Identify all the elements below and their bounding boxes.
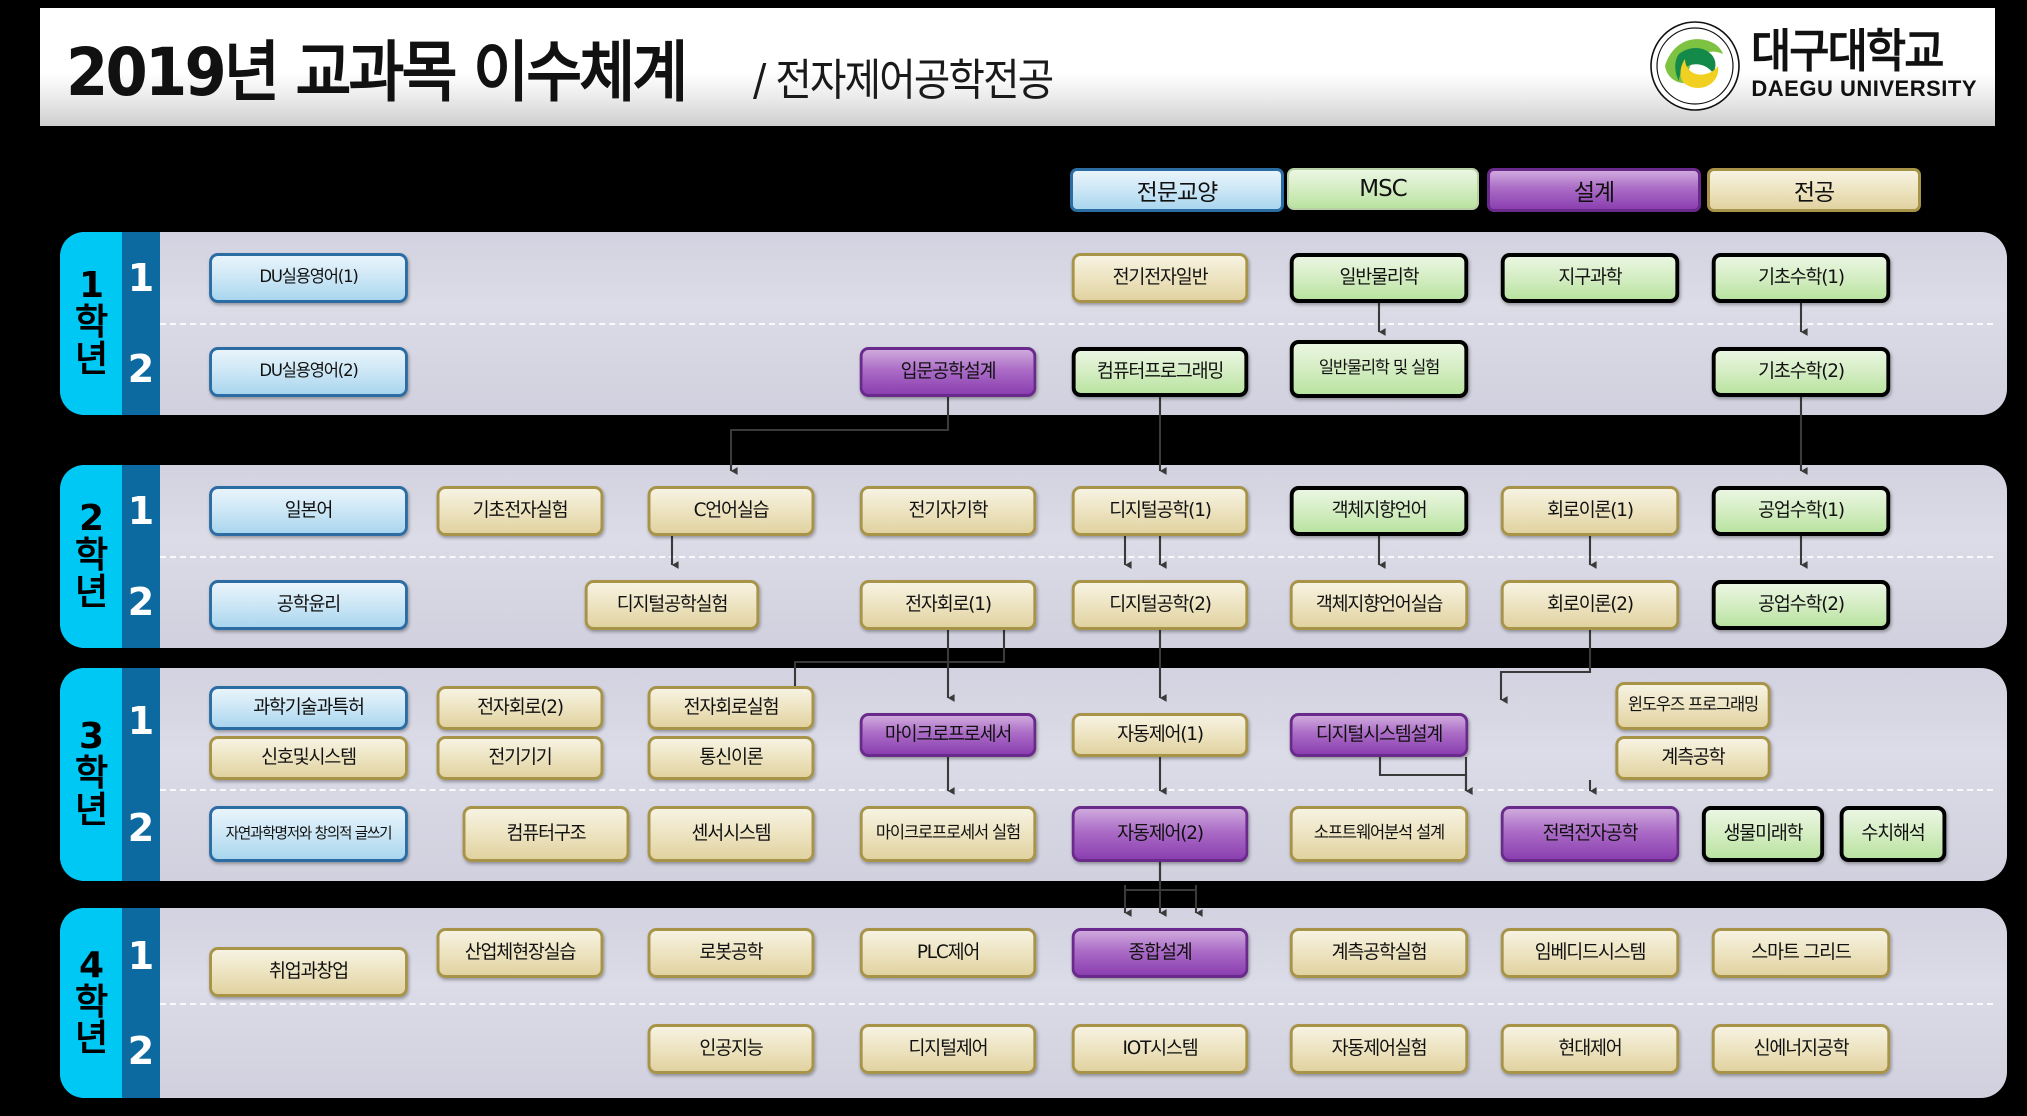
course-label: 센서시스템 <box>692 824 771 843</box>
course-label: 공업수학(1) <box>1758 501 1844 520</box>
semester-column-year3: 1 2 <box>122 668 160 881</box>
course-box-biofuture[interactable]: 생물미래학 <box>1702 806 1824 862</box>
logo-korean-name: 대구대학교 <box>1751 28 1965 74</box>
course-label: 기초수학(1) <box>1758 268 1844 287</box>
course-box-physlab[interactable]: 일반물리학 및 실험 <box>1290 340 1468 398</box>
course-label: 인공지능 <box>699 1039 762 1058</box>
course-label: 종합설계 <box>1128 943 1191 962</box>
title-separator: / <box>753 55 765 106</box>
course-label: 현대제어 <box>1558 1039 1621 1058</box>
course-label: 계측공학실험 <box>1332 943 1427 962</box>
semester-divider-year1 <box>160 323 1993 325</box>
course-label: DU실용영어(2) <box>259 363 357 380</box>
course-label: DU실용영어(1) <box>259 269 357 286</box>
course-box-clang[interactable]: C언어실습 <box>648 486 815 536</box>
semester-number-2-1: 1 <box>122 465 160 557</box>
course-box-field[interactable]: 산업체현장실습 <box>437 928 604 978</box>
course-label: 임베디드시스템 <box>1535 943 1646 962</box>
course-box-cprog[interactable]: 컴퓨터프로그래밍 <box>1072 347 1249 397</box>
course-label: 기초수학(2) <box>1758 362 1844 381</box>
course-box-smartgrid[interactable]: 스마트 그리드 <box>1712 928 1890 978</box>
course-label: 마이크로프로세서 <box>885 725 1011 744</box>
course-label: 전력전자공학 <box>1543 824 1638 843</box>
course-box-phys1[interactable]: 일반물리학 <box>1290 253 1468 303</box>
course-box-capstone[interactable]: 종합설계 <box>1072 928 1249 978</box>
course-box-auto1[interactable]: 자동제어(1) <box>1072 713 1249 757</box>
course-box-ckt1[interactable]: 회로이론(1) <box>1501 486 1679 536</box>
legend-item-msc: MSC <box>1287 168 1479 210</box>
course-label: 전자회로실험 <box>684 698 779 717</box>
course-label: 컴퓨터프로그래밍 <box>1097 362 1223 381</box>
course-box-microexp[interactable]: 마이크로프로세서 실험 <box>860 806 1037 862</box>
course-box-jp[interactable]: 일본어 <box>209 486 408 536</box>
semester-number-1-1: 1 <box>122 232 160 324</box>
course-label: 전자회로(1) <box>905 595 991 614</box>
year-label-3: 3학년 <box>60 668 122 881</box>
semester-column-year1: 1 2 <box>122 232 160 415</box>
course-label: 회로이론(1) <box>1547 501 1633 520</box>
title-major: 전자제어공학전공 <box>776 55 1053 106</box>
page-header: 2019년 교과목 이수체계 / 전자제어공학전공 대구대학교 DAEGU UN… <box>40 8 1995 126</box>
course-box-ecirc2[interactable]: 전자회로(2) <box>437 686 604 730</box>
course-label: 신호및시스템 <box>261 748 356 767</box>
course-box-ckt2[interactable]: 회로이론(2) <box>1501 580 1679 630</box>
course-box-plc[interactable]: PLC제어 <box>860 928 1037 978</box>
course-box-oop[interactable]: 객체지향언어 <box>1290 486 1468 536</box>
course-label: 취업과창업 <box>269 962 348 981</box>
course-box-emath2[interactable]: 공업수학(2) <box>1712 580 1890 630</box>
course-box-du2[interactable]: DU실용영어(2) <box>209 347 408 397</box>
course-label: 윈도우즈 프로그래밍 <box>1628 697 1758 714</box>
course-box-dig2[interactable]: 디지털공학(2) <box>1072 580 1249 630</box>
semester-divider-year3 <box>160 789 1993 791</box>
course-label: 통신이론 <box>699 748 762 767</box>
course-box-newenergy[interactable]: 신에너지공학 <box>1712 1024 1890 1074</box>
course-label: 스마트 그리드 <box>1751 943 1850 962</box>
course-box-ai[interactable]: 인공지능 <box>648 1024 815 1074</box>
course-box-emath1[interactable]: 공업수학(1) <box>1712 486 1890 536</box>
course-box-measexp[interactable]: 계측공학실험 <box>1290 928 1468 978</box>
course-box-intro[interactable]: 입문공학설계 <box>860 347 1037 397</box>
course-box-comparch[interactable]: 컴퓨터구조 <box>463 806 630 862</box>
course-box-ecirc1[interactable]: 전자회로(1) <box>860 580 1037 630</box>
semester-number-3-1: 1 <box>122 668 160 775</box>
semester-column-year2: 1 2 <box>122 465 160 648</box>
semester-divider-year2 <box>160 556 1993 558</box>
semester-number-1-2: 2 <box>122 324 160 416</box>
course-label: 마이크로프로세서 실험 <box>876 825 1020 842</box>
course-box-auto2[interactable]: 자동제어(2) <box>1072 806 1249 862</box>
course-label: 자연과학명저와 창의적 글쓰기 <box>226 826 392 841</box>
course-box-comm[interactable]: 통신이론 <box>648 736 815 780</box>
course-label: 디지털공학실험 <box>617 595 728 614</box>
course-box-science[interactable]: 자연과학명저와 창의적 글쓰기 <box>209 806 408 862</box>
semester-column-year4: 1 2 <box>122 908 160 1098</box>
legend-item-design: 설계 <box>1487 168 1701 212</box>
logo-text: 대구대학교 DAEGU UNIVERSITY <box>1751 28 1977 104</box>
course-label: 수치해석 <box>1861 824 1924 843</box>
year-label-1: 1학년 <box>60 232 122 415</box>
legend-item-general: 전문교양 <box>1070 168 1284 212</box>
course-box-winprog[interactable]: 윈도우즈 프로그래밍 <box>1615 682 1770 730</box>
page-title: 2019년 교과목 이수체계 / 전자제어공학전공 <box>40 19 1086 115</box>
course-box-digctl[interactable]: 디지털제어 <box>860 1024 1037 1074</box>
year-label-2: 2학년 <box>60 465 122 648</box>
course-label: 디지털시스템설계 <box>1316 725 1442 744</box>
semester-number-4-1: 1 <box>122 908 160 1003</box>
semester-number-3-2: 2 <box>122 775 160 882</box>
page-title-sub: / 전자제어공학전공 <box>753 44 1052 108</box>
semester-number-2-2: 2 <box>122 557 160 649</box>
year-label-4: 4학년 <box>60 908 122 1098</box>
course-label: 지구과학 <box>1558 268 1621 287</box>
course-label: 과학기술과특허 <box>253 698 364 717</box>
daegu-university-seal-icon <box>1649 20 1741 112</box>
course-box-swdesign[interactable]: 소프트웨어분석 설계 <box>1290 806 1468 862</box>
university-logo: 대구대학교 DAEGU UNIVERSITY <box>1649 14 1977 118</box>
course-label: 공학윤리 <box>277 595 340 614</box>
legend: 전문교양 MSC 설계 전공 <box>0 168 2027 212</box>
course-label: 입문공학설계 <box>901 362 996 381</box>
course-box-meas[interactable]: 계측공학 <box>1615 736 1770 780</box>
course-label: PLC제어 <box>917 943 979 962</box>
course-label: 계측공학 <box>1661 748 1724 767</box>
course-box-micro[interactable]: 마이크로프로세서 <box>860 713 1037 757</box>
course-label: 자동제어(2) <box>1117 824 1203 843</box>
course-box-powerelec[interactable]: 전력전자공학 <box>1501 806 1679 862</box>
course-box-iot[interactable]: IOT시스템 <box>1072 1024 1249 1074</box>
course-label: 산업체현장실습 <box>465 943 576 962</box>
course-label: 컴퓨터구조 <box>507 824 586 843</box>
course-box-modernctl[interactable]: 현대제어 <box>1501 1024 1679 1074</box>
course-box-earth[interactable]: 지구과학 <box>1501 253 1679 303</box>
course-box-du1[interactable]: DU실용영어(1) <box>209 253 408 303</box>
course-label: 생물미래학 <box>1724 824 1803 843</box>
course-label: 자동제어(1) <box>1117 725 1203 744</box>
course-label: 전기자기학 <box>909 501 988 520</box>
course-box-ooplab[interactable]: 객체지향언어실습 <box>1290 580 1468 630</box>
course-box-robot[interactable]: 로봇공학 <box>648 928 815 978</box>
course-label: 일반물리학 및 실험 <box>1319 360 1439 377</box>
course-label: 전기전자일반 <box>1113 268 1208 287</box>
logo-english-name: DAEGU UNIVERSITY <box>1751 74 1977 104</box>
course-label: 일본어 <box>285 501 332 520</box>
semester-number-4-2: 2 <box>122 1003 160 1098</box>
course-box-dig1[interactable]: 디지털공학(1) <box>1072 486 1249 536</box>
course-label: 일반물리학 <box>1340 268 1419 287</box>
legend-item-major: 전공 <box>1707 168 1921 212</box>
course-box-diglab[interactable]: 디지털공학실험 <box>585 580 760 630</box>
course-box-math1[interactable]: 기초수학(1) <box>1712 253 1890 303</box>
course-label: 공업수학(2) <box>1758 595 1844 614</box>
course-label: 디지털공학(2) <box>1109 595 1211 614</box>
course-label: 기초전자실험 <box>473 501 568 520</box>
course-box-numeric[interactable]: 수치해석 <box>1840 806 1947 862</box>
course-box-sensor[interactable]: 센서시스템 <box>648 806 815 862</box>
course-box-embed[interactable]: 임베디드시스템 <box>1501 928 1679 978</box>
course-box-ecircexp[interactable]: 전자회로실험 <box>648 686 815 730</box>
course-label: IOT시스템 <box>1122 1039 1197 1058</box>
course-label: C언어실습 <box>694 501 769 520</box>
course-box-emag[interactable]: 전기자기학 <box>860 486 1037 536</box>
course-label: 객체지향언어실습 <box>1316 595 1442 614</box>
course-box-digsys[interactable]: 디지털시스템설계 <box>1290 713 1468 757</box>
course-box-basicelec[interactable]: 기초전자실험 <box>437 486 604 536</box>
course-label: 소프트웨어분석 설계 <box>1314 825 1444 842</box>
course-box-eegen[interactable]: 전기전자일반 <box>1072 253 1249 303</box>
course-label: 회로이론(2) <box>1547 595 1633 614</box>
course-label: 신에너지공학 <box>1754 1039 1849 1058</box>
course-label: 디지털제어 <box>909 1039 988 1058</box>
course-box-emachine[interactable]: 전기기기 <box>437 736 604 780</box>
course-box-enethics[interactable]: 공학윤리 <box>209 580 408 630</box>
course-box-signal[interactable]: 신호및시스템 <box>209 736 408 780</box>
course-label: 객체지향언어 <box>1332 501 1427 520</box>
course-label: 자동제어실험 <box>1332 1039 1427 1058</box>
course-box-math2[interactable]: 기초수학(2) <box>1712 347 1890 397</box>
course-label: 전자회로(2) <box>477 698 563 717</box>
course-box-career[interactable]: 취업과창업 <box>209 947 408 997</box>
page-title-main: 2019년 교과목 이수체계 <box>66 19 686 115</box>
semester-divider-year4 <box>160 1003 1993 1005</box>
course-label: 디지털공학(1) <box>1109 501 1211 520</box>
course-label: 로봇공학 <box>699 943 762 962</box>
course-label: 전기기기 <box>488 748 551 767</box>
course-box-autoexp[interactable]: 자동제어실험 <box>1290 1024 1468 1074</box>
course-box-patent[interactable]: 과학기술과특허 <box>209 686 408 730</box>
